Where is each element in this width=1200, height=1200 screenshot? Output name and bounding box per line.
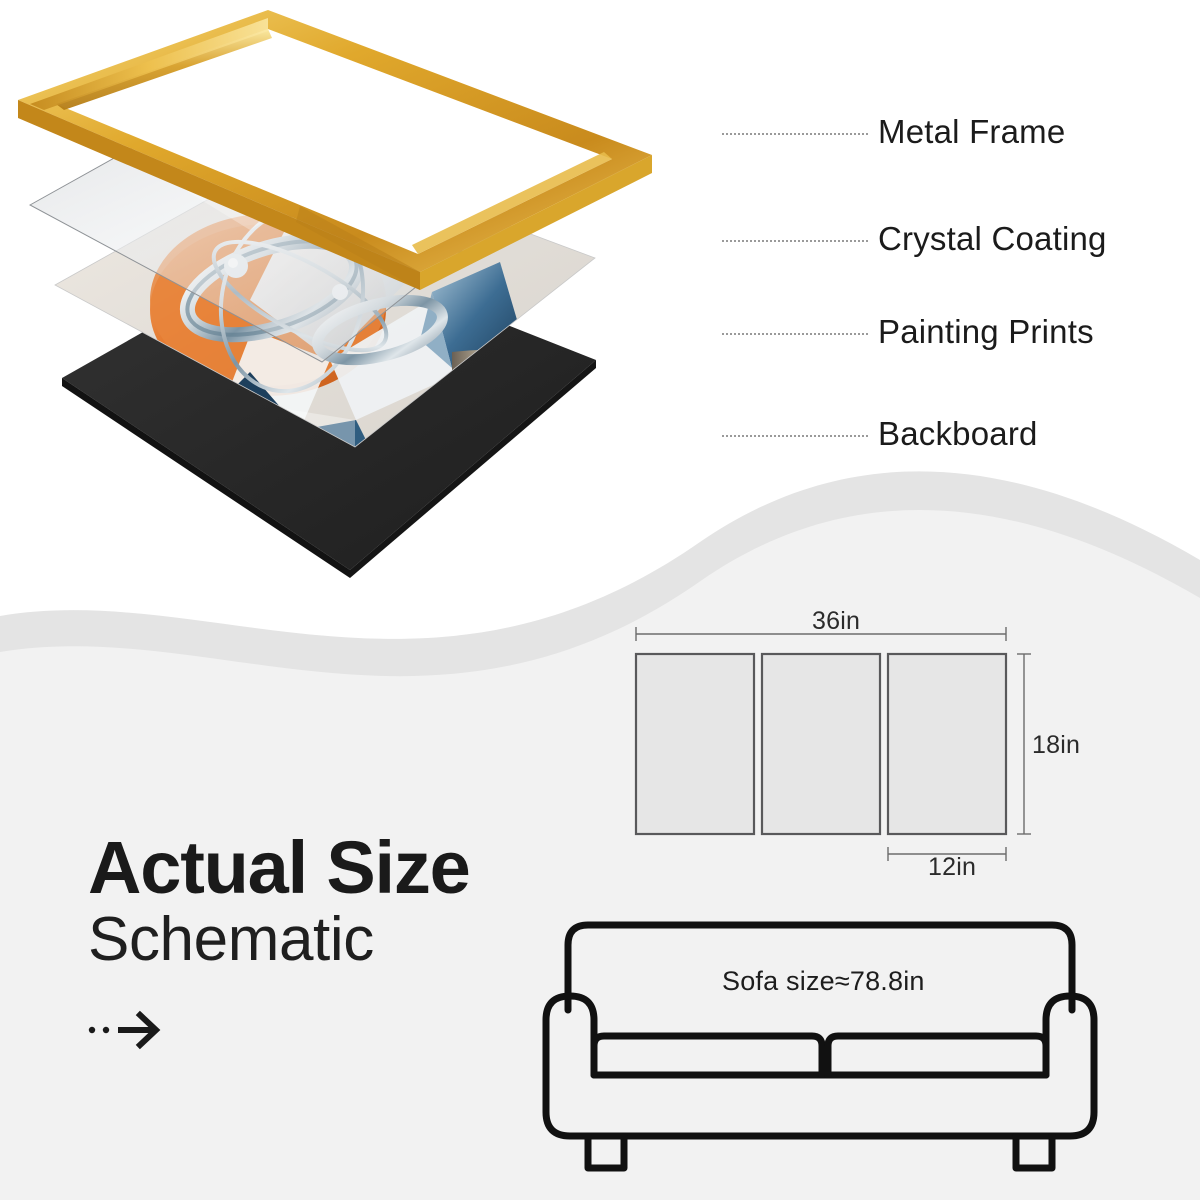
- label-painting-prints: Painting Prints: [878, 315, 1094, 348]
- leader-line-crystal-coating: [722, 240, 868, 242]
- sofa-cushion-left: [594, 1036, 822, 1075]
- panel-rect-1: [636, 654, 754, 834]
- dimension-label-panel-width: 12in: [928, 853, 976, 882]
- panel-rect-3: [888, 654, 1006, 834]
- leader-line-metal-frame: [722, 133, 868, 135]
- sofa-leg-right: [1016, 1136, 1052, 1168]
- infographic-canvas: Metal Frame Crystal Coating Painting Pri…: [0, 0, 1200, 1200]
- sofa-cushion-right: [828, 1036, 1046, 1075]
- sofa-leg-left: [588, 1136, 624, 1168]
- arrow-indicator: [88, 1008, 208, 1052]
- headline-primary: Actual Size: [88, 830, 470, 905]
- panel-rect-2: [762, 654, 880, 834]
- dimension-label-width: 36in: [812, 607, 860, 636]
- dimension-label-height: 18in: [1032, 731, 1080, 760]
- leader-line-painting-prints: [722, 333, 868, 335]
- arrow-dot-1: [89, 1027, 95, 1033]
- arrow-dot-2: [103, 1027, 109, 1033]
- headline-block: Actual Size Schematic: [88, 830, 470, 974]
- label-metal-frame: Metal Frame: [878, 115, 1065, 148]
- headline-secondary: Schematic: [88, 907, 470, 974]
- sofa-illustration: [520, 900, 1120, 1195]
- label-crystal-coating: Crystal Coating: [878, 222, 1107, 255]
- sofa-size-label: Sofa size≈78.8in: [722, 966, 925, 997]
